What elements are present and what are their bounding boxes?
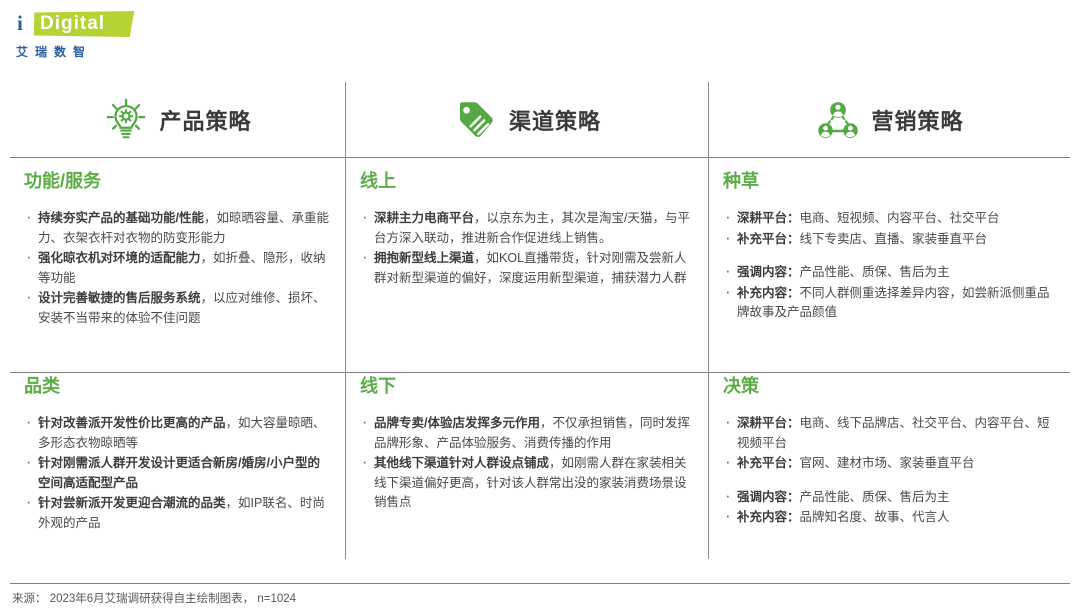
section-marketing-seeding: 种草 深耕平台：电商、短视频、内容平台、社交平台 补充平台：线下专卖店、直播、家… [708,157,1070,362]
section-marketing-decision: 决策 深耕平台：电商、线下品牌店、社交平台、内容平台、短视频平台 补充平台：官网… [708,362,1070,559]
bullet-list: 深耕平台：电商、短视频、内容平台、社交平台 补充平台：线下专卖店、直播、家装垂直… [723,209,1054,323]
column-header-marketing: 营销策略 [708,82,1070,157]
list-item: 针对改善派开发性价比更高的产品，如大容量晾晒、多形态衣物晾晒等 [24,414,329,453]
column-header-channel: 渠道策略 [345,82,708,157]
list-item: 深耕主力电商平台，以京东为主，其次是淘宝/天猫，与平台方深入联动，推进新合作促进… [360,209,692,248]
list-item: 补充内容：品牌知名度、故事、代言人 [723,508,1054,528]
section-product-function: 功能/服务 持续夯实产品的基础功能/性能，如晾晒容量、承重能力、衣架衣杆对衣物的… [10,157,345,362]
column-title-channel: 渠道策略 [509,104,601,136]
bullet-list: 持续夯实产品的基础功能/性能，如晾晒容量、承重能力、衣架衣杆对衣物的防变形能力 … [24,209,329,328]
price-tag-icon [453,97,499,143]
list-item: 品牌专卖/体验店发挥多元作用，不仅承担销售，同时发挥品牌形象、产品体验服务、消费… [360,414,692,453]
list-item: 针对刚需派人群开发设计更适合新房/婚房/小户型的空间高适配型产品 [24,454,329,493]
list-item: 持续夯实产品的基础功能/性能，如晾晒容量、承重能力、衣架衣杆对衣物的防变形能力 [24,209,329,248]
logo-initial: i [17,13,23,34]
column-header-product: 产品策略 [10,82,345,157]
brand-logo: i Digital 艾瑞数智 [14,10,154,60]
section-title: 功能/服务 [24,171,329,191]
bullet-list: 品牌专卖/体验店发挥多元作用，不仅承担销售，同时发挥品牌形象、产品体验服务、消费… [360,414,692,513]
logo-subtitle: 艾瑞数智 [16,43,154,60]
list-item: 拥抱新型线上渠道，如KOL直播带货，针对刚需及尝新人群对新型渠道的偏好，深度运用… [360,249,692,288]
bullet-list: 深耕主力电商平台，以京东为主，其次是淘宝/天猫，与平台方深入联动，推进新合作促进… [360,209,692,288]
list-item: 强调内容：产品性能、质保、售后为主 [723,488,1054,508]
section-channel-offline: 线下 品牌专卖/体验店发挥多元作用，不仅承担销售，同时发挥品牌形象、产品体验服务… [345,362,708,559]
list-item: 补充平台：官网、建材市场、家装垂直平台 [723,454,1054,474]
lightbulb-gear-icon [103,97,149,143]
section-title: 线上 [360,171,692,191]
list-item: 强调内容：产品性能、质保、售后为主 [723,263,1054,283]
list-item: 深耕平台：电商、短视频、内容平台、社交平台 [723,209,1054,229]
strategy-matrix: 产品策略 渠道策略 [10,82,1070,584]
section-title: 线下 [360,376,692,396]
column-title-product: 产品策略 [159,104,251,136]
section-title: 种草 [723,171,1054,191]
infographic-page: i Digital 艾瑞数智 [0,0,1080,615]
section-title: 品类 [24,376,329,396]
list-item: 针对尝新派开发更迎合潮流的品类，如IP联名、时尚外观的产品 [24,494,329,533]
logo-wordmark: Digital [40,13,105,35]
section-product-category: 品类 针对改善派开发性价比更高的产品，如大容量晾晒、多形态衣物晾晒等 针对刚需派… [10,362,345,559]
section-title: 决策 [723,376,1054,396]
section-channel-online: 线上 深耕主力电商平台，以京东为主，其次是淘宝/天猫，与平台方深入联动，推进新合… [345,157,708,362]
list-item: 补充平台：线下专卖店、直播、家装垂直平台 [723,230,1054,250]
list-item: 设计完善敏捷的售后服务系统，以应对维修、损坏、安装不当带来的体验不佳问题 [24,289,329,328]
bullet-list: 深耕平台：电商、线下品牌店、社交平台、内容平台、短视频平台 补充平台：官网、建材… [723,414,1054,528]
people-network-icon [815,97,861,143]
list-item: 深耕平台：电商、线下品牌店、社交平台、内容平台、短视频平台 [723,414,1054,453]
column-title-marketing: 营销策略 [871,104,963,136]
bullet-list: 针对改善派开发性价比更高的产品，如大容量晾晒、多形态衣物晾晒等 针对刚需派人群开… [24,414,329,533]
list-item: 强化晾衣机对环境的适配能力，如折叠、隐形，收纳等功能 [24,249,329,288]
list-item: 补充内容：不同人群侧重选择差异内容，如尝新派侧重品牌故事及产品颜值 [723,284,1054,323]
source-note: 来源： 2023年6月艾瑞调研获得自主绘制图表， n=1024 [12,590,296,606]
list-item: 其他线下渠道针对人群设点铺成，如刚需人群在家装相关线下渠道偏好更高，针对该人群常… [360,454,692,513]
logo-mark: i Digital [14,10,154,40]
